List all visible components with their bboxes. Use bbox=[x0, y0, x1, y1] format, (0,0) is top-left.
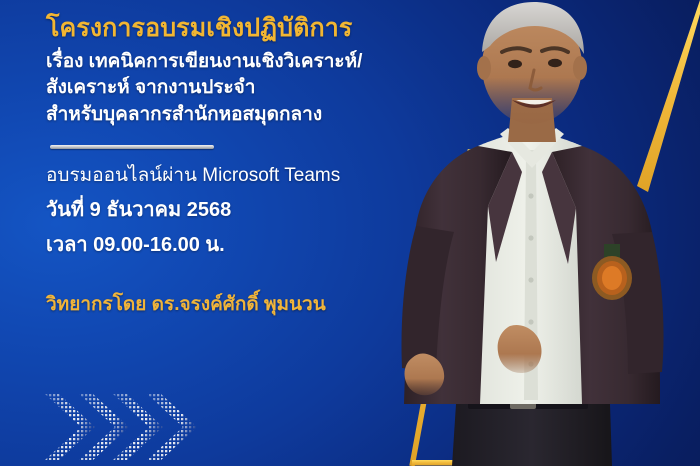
event-mode: อบรมออนไลน์ผ่าน Microsoft Teams bbox=[46, 166, 440, 185]
face bbox=[482, 8, 582, 124]
chevron-1 bbox=[45, 394, 95, 460]
chevron-group bbox=[45, 394, 197, 460]
shirt-button bbox=[528, 361, 533, 366]
subtitle-line-1: เรื่อง เทคนิคการเขียนงานเชิงวิเคราะห์/ bbox=[46, 49, 440, 76]
belt-buckle bbox=[510, 396, 536, 409]
eye-left bbox=[508, 60, 522, 68]
event-time: เวลา 09.00-16.00 น. bbox=[46, 235, 440, 255]
event-date: วันที่ 9 ธันวาคม 2568 bbox=[46, 200, 440, 220]
eyebrow-left bbox=[502, 48, 530, 52]
shirt-button bbox=[528, 277, 533, 282]
page-title: โครงการอบรมเชิงปฏิบัติการ bbox=[46, 14, 440, 44]
shirt-placket bbox=[524, 150, 538, 400]
teeth bbox=[516, 100, 552, 105]
subtitle-line-3: สำหรับบุคลากรสำนักหอสมุดกลาง bbox=[46, 102, 440, 129]
speaker-name: วิทยากรโดย ดร.จรงค์ศักดิ์ พุมนวน bbox=[46, 295, 440, 314]
shirt-collar bbox=[500, 128, 564, 168]
eyebrow-right bbox=[542, 48, 568, 52]
hand-right bbox=[498, 325, 542, 373]
shirt bbox=[464, 132, 592, 404]
gold-diagonal-stripe bbox=[637, 0, 700, 192]
event-details: อบรมออนไลน์ผ่าน Microsoft Teams วันที่ 9… bbox=[46, 166, 440, 255]
poster-subtitle: เรื่อง เทคนิคการเขียนงานเชิงวิเคราะห์/ ส… bbox=[46, 49, 440, 130]
eye-right bbox=[548, 59, 562, 67]
dotted-chevrons-icon bbox=[45, 394, 205, 460]
nose bbox=[530, 70, 541, 90]
sleeve-right bbox=[612, 232, 664, 374]
shirt-button bbox=[528, 235, 533, 240]
ear-right bbox=[573, 56, 587, 80]
lapel-right bbox=[542, 152, 576, 264]
hair bbox=[482, 2, 584, 54]
ear-left bbox=[477, 56, 491, 80]
belt bbox=[468, 396, 588, 409]
blazer-badge bbox=[592, 244, 632, 300]
lapel-left bbox=[488, 152, 522, 262]
training-poster: โครงการอบรมเชิงปฏิบัติการ เรื่อง เทคนิคก… bbox=[0, 0, 700, 466]
shirt-button bbox=[528, 193, 533, 198]
trousers bbox=[452, 404, 612, 466]
neck bbox=[508, 98, 556, 142]
shirt-button bbox=[528, 319, 533, 324]
silver-divider bbox=[50, 145, 214, 149]
mouth bbox=[512, 100, 556, 108]
subtitle-line-2: สังเคราะห์ จากงานประจำ bbox=[46, 75, 440, 102]
blazer-right bbox=[552, 146, 660, 404]
